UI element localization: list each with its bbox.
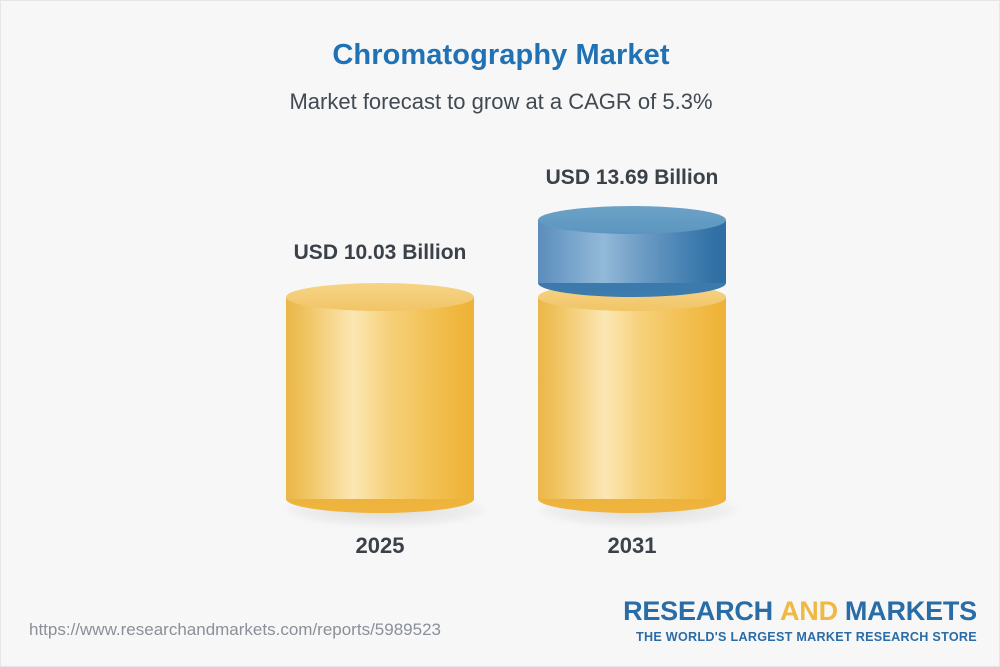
research-and-markets-logo[interactable]: RESEARCHANDMARKETS THE WORLD'S LARGEST M…	[623, 596, 977, 644]
bar-cap-top-2025	[286, 283, 474, 311]
logo-word-research: RESEARCH	[623, 596, 773, 626]
report-url[interactable]: https://www.researchandmarkets.com/repor…	[29, 620, 441, 640]
plot-area: USD 10.03 Billion 2025 USD 13.69 Billion	[1, 141, 1000, 581]
bar-body-2025	[286, 297, 474, 499]
bar-cap-top-2031	[538, 206, 726, 234]
chart-subtitle: Market forecast to grow at a CAGR of 5.3…	[1, 89, 1000, 115]
bar-cylinder-2025	[286, 283, 474, 513]
logo-word-and: AND	[780, 596, 838, 626]
logo-wordmark: RESEARCHANDMARKETS	[623, 596, 977, 627]
logo-tagline: THE WORLD'S LARGEST MARKET RESEARCH STOR…	[623, 630, 977, 644]
bar-body-base-2031	[538, 297, 726, 499]
bar-group-2031[interactable]: USD 13.69 Billion 2031	[472, 141, 792, 581]
logo-word-markets: MARKETS	[845, 596, 977, 626]
bar-category-label-2031: 2031	[472, 533, 792, 559]
chart-canvas: Chromatography Market Market forecast to…	[0, 0, 1000, 667]
chart-title: Chromatography Market	[1, 39, 1000, 72]
bar-cylinder-growth-2031	[538, 206, 726, 311]
bar-value-label-2031: USD 13.69 Billion	[472, 166, 792, 190]
bar-cylinder-base-2031	[538, 283, 726, 513]
